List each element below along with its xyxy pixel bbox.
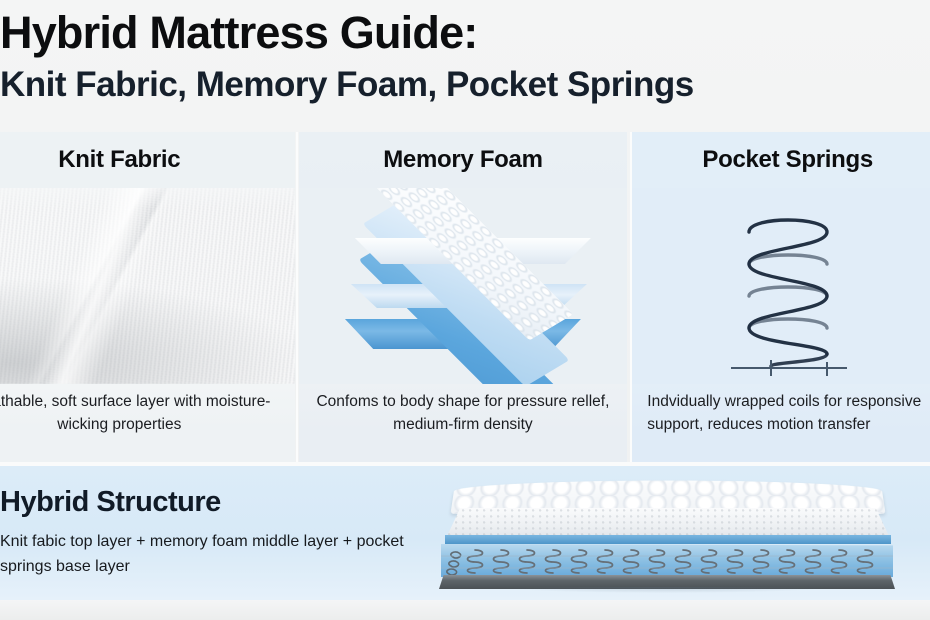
card-caption-pocket-springs: Indvidually wrapped coils for responsive… bbox=[631, 384, 930, 462]
mattress-blue-strip bbox=[445, 535, 891, 544]
card-title-knit-fabric: Knit Fabric bbox=[58, 146, 180, 174]
spring-coil-icon bbox=[713, 190, 863, 380]
card-divider-1 bbox=[296, 132, 298, 462]
mattress-spring-layer bbox=[441, 544, 893, 577]
mattress-cutaway-illustration bbox=[431, 480, 901, 592]
card-caption-text-knit-fabric: Breathable, soft surface layer with mois… bbox=[0, 390, 284, 436]
page-title-line1: Hybrid Mattress Guide: bbox=[0, 4, 930, 62]
infographic-canvas: Hybrid Mattress Guide: Knit Fabric, Memo… bbox=[0, 0, 930, 620]
card-memory-foam: Memory Foam bbox=[299, 132, 628, 462]
card-pocket-springs: Pocket Springs bbox=[631, 132, 930, 462]
mattress-foam-layer bbox=[447, 508, 889, 536]
card-knit-fabric: Knit Fabric Breathable, soft surface lay… bbox=[0, 132, 295, 462]
page-title: Hybrid Mattress Guide: Knit Fabric, Memo… bbox=[0, 4, 930, 108]
card-divider-2 bbox=[630, 132, 632, 462]
hybrid-structure-text: Hybrid Structure Knit fabic top layer + … bbox=[0, 486, 420, 579]
card-caption-text-pocket-springs: Indvidually wrapped coils for responsive… bbox=[647, 390, 930, 436]
coil-spring-illustration bbox=[631, 180, 930, 384]
foam-layer-stack bbox=[299, 188, 628, 388]
foam-layers-illustration bbox=[299, 180, 628, 384]
page-footer-strip bbox=[0, 600, 930, 620]
coil-spring-wrap bbox=[631, 190, 930, 380]
component-card-row: Knit Fabric Breathable, soft surface lay… bbox=[0, 132, 930, 462]
mattress-foam-texture bbox=[447, 508, 889, 536]
foam-layer-top bbox=[355, 198, 585, 294]
fabric-weave-texture bbox=[0, 180, 295, 384]
section-hybrid-structure: Hybrid Structure Knit fabic top layer + … bbox=[0, 466, 930, 600]
page-title-line2: Knit Fabric, Memory Foam, Pocket Springs bbox=[0, 62, 930, 108]
card-header-knit-fabric: Knit Fabric bbox=[0, 132, 295, 188]
card-caption-text-memory-foam: Confoms to body shape for pressure relle… bbox=[309, 390, 618, 436]
knit-fabric-photo bbox=[0, 180, 295, 384]
card-caption-knit-fabric: Breathable, soft surface layer with mois… bbox=[0, 384, 295, 462]
section-divider bbox=[0, 462, 930, 466]
hybrid-structure-description: Knit fabic top layer + memory foam middl… bbox=[0, 529, 420, 579]
card-title-memory-foam: Memory Foam bbox=[383, 146, 542, 174]
mattress-drop-shadow bbox=[451, 587, 881, 595]
mattress-coil-row bbox=[441, 544, 893, 577]
card-header-pocket-springs: Pocket Springs bbox=[631, 132, 930, 188]
card-caption-memory-foam: Confoms to body shape for pressure relle… bbox=[299, 384, 628, 462]
card-header-memory-foam: Memory Foam bbox=[299, 132, 628, 188]
fabric-grain-overlay bbox=[0, 180, 295, 384]
hybrid-structure-title: Hybrid Structure bbox=[0, 486, 420, 519]
card-title-pocket-springs: Pocket Springs bbox=[702, 146, 873, 174]
